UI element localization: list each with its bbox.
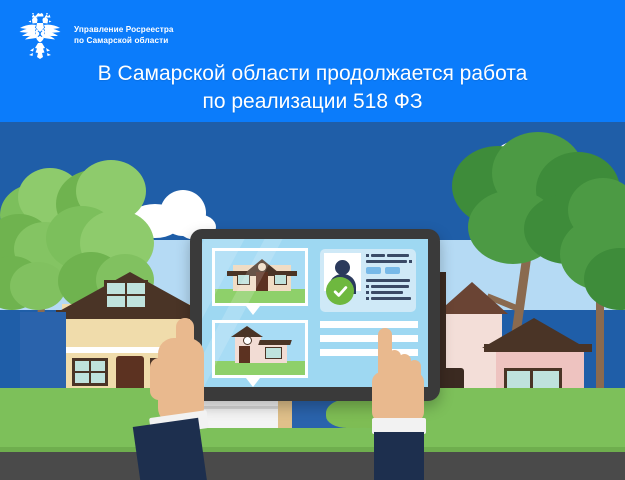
check-icon xyxy=(332,283,349,300)
page-title: В Самарской области продолжается работа … xyxy=(0,60,625,115)
illustration-scene xyxy=(0,122,625,480)
house-photo-top xyxy=(215,251,305,303)
road-band xyxy=(0,452,625,480)
header-banner: Управление Росреестра по Самарской облас… xyxy=(0,0,625,122)
form-line-1 xyxy=(320,321,418,328)
form-line-2 xyxy=(320,335,418,342)
property-photo-card-bottom[interactable] xyxy=(212,320,308,378)
owner-profile-card[interactable] xyxy=(320,249,416,312)
profile-detail-rows xyxy=(366,254,412,303)
house-photo-bottom xyxy=(215,323,305,375)
organization-name: Управление Росреестра по Самарской облас… xyxy=(74,25,174,47)
profile-action-button-1[interactable] xyxy=(366,267,381,274)
property-photo-card-top[interactable] xyxy=(212,248,308,306)
profile-action-button-2[interactable] xyxy=(385,267,400,274)
profile-action-buttons[interactable] xyxy=(366,267,412,274)
photo-card-top-pointer xyxy=(246,306,260,315)
photo-card-bottom-pointer xyxy=(246,378,260,387)
rosreestr-eagle-emblem xyxy=(14,13,66,59)
poster: Управление Росреестра по Самарской облас… xyxy=(0,0,625,480)
logo-block: Управление Росреестра по Самарской облас… xyxy=(14,13,174,59)
verified-badge xyxy=(326,277,354,305)
